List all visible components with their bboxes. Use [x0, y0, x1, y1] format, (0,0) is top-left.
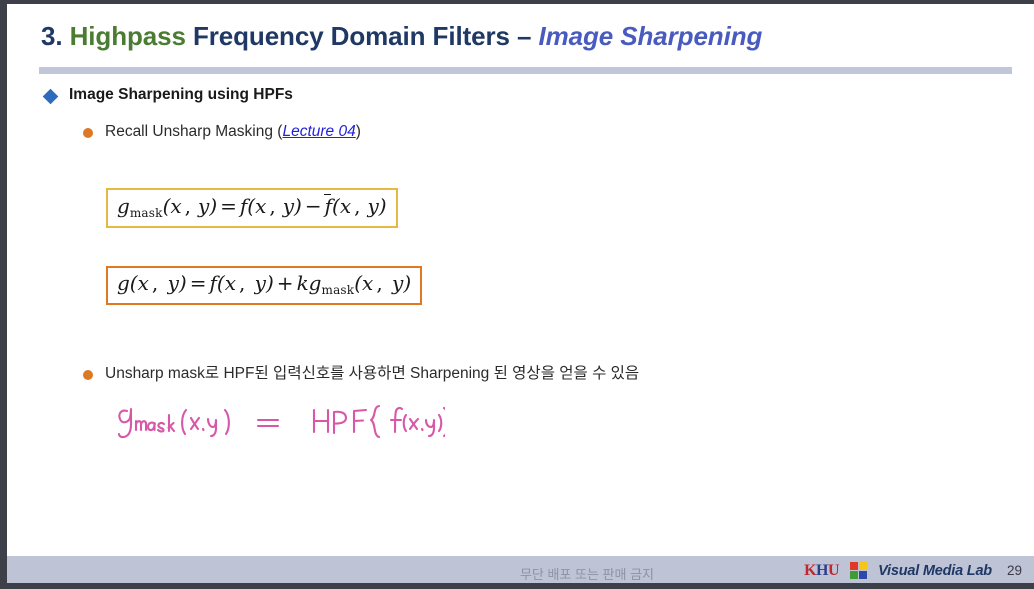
logo-square-top-left [850, 562, 858, 570]
khu-logo-u: U [828, 562, 839, 579]
recall-text-after: ) [356, 123, 361, 140]
bullet-level2-korean-text: Unsharp mask로 HPF된 입력신호를 사용하면 Sharpening… [105, 364, 639, 383]
khu-logo-k: K [804, 562, 816, 579]
page-title: 3. Highpass Frequency Domain Filters – I… [41, 21, 762, 52]
dot-bullet-icon [83, 370, 93, 380]
footer-branding: KHU Visual Media Lab 29 [804, 562, 1022, 579]
title-highpass: Highpass [70, 21, 186, 51]
title-number: 3. [41, 21, 62, 51]
title-subject: Image Sharpening [539, 21, 763, 51]
visual-media-lab-logo-icon [850, 562, 867, 579]
slide-viewer-frame: 3. Highpass Frequency Domain Filters – I… [0, 0, 1034, 589]
recall-text-before: Recall Unsharp Masking ( [105, 123, 282, 140]
unsharp-mask-equation: gmask(x, y)=f(x, y)−f(x, y) [106, 188, 398, 228]
unsharp-mask-equation-math: gmask(x, y)=f(x, y)−f(x, y) [117, 194, 387, 220]
handwritten-note-ink [115, 400, 445, 452]
diamond-bullet-icon [43, 89, 59, 105]
dot-bullet-icon [83, 128, 93, 138]
slide-canvas: 3. Highpass Frequency Domain Filters – I… [7, 4, 1034, 583]
bullet-item-image-sharpening: Image Sharpening using HPFs [45, 86, 293, 105]
bullet-level1-label: Image Sharpening using HPFs [69, 86, 293, 105]
logo-square-bottom-left [850, 571, 858, 579]
logo-square-bottom-right [859, 571, 867, 579]
lab-name-label: Visual Media Lab [878, 563, 992, 579]
logo-square-top-right [859, 562, 867, 570]
page-number: 29 [1007, 563, 1022, 578]
title-main: Frequency Domain Filters [193, 21, 510, 51]
bullet-item-korean-note: Unsharp mask로 HPF된 입력신호를 사용하면 Sharpening… [83, 364, 639, 383]
footer-copyright-notice: 무단 배포 또는 판매 금지 [520, 564, 654, 583]
sharpened-output-equation-math: g(x, y)=f(x, y)+kgmask(x, y) [117, 272, 411, 297]
bullet-item-recall-unsharp: Recall Unsharp Masking (Lecture 04) [83, 122, 361, 141]
khu-logo: KHU [804, 563, 839, 579]
khu-logo-h: H [816, 562, 828, 579]
sharpened-output-equation: g(x, y)=f(x, y)+kgmask(x, y) [106, 266, 422, 305]
title-dash: – [517, 21, 531, 51]
bullet-level2-text: Recall Unsharp Masking (Lecture 04) [105, 122, 361, 141]
handwritten-note [115, 400, 445, 452]
lecture-04-link[interactable]: Lecture 04 [282, 123, 355, 140]
title-divider [39, 67, 1012, 74]
